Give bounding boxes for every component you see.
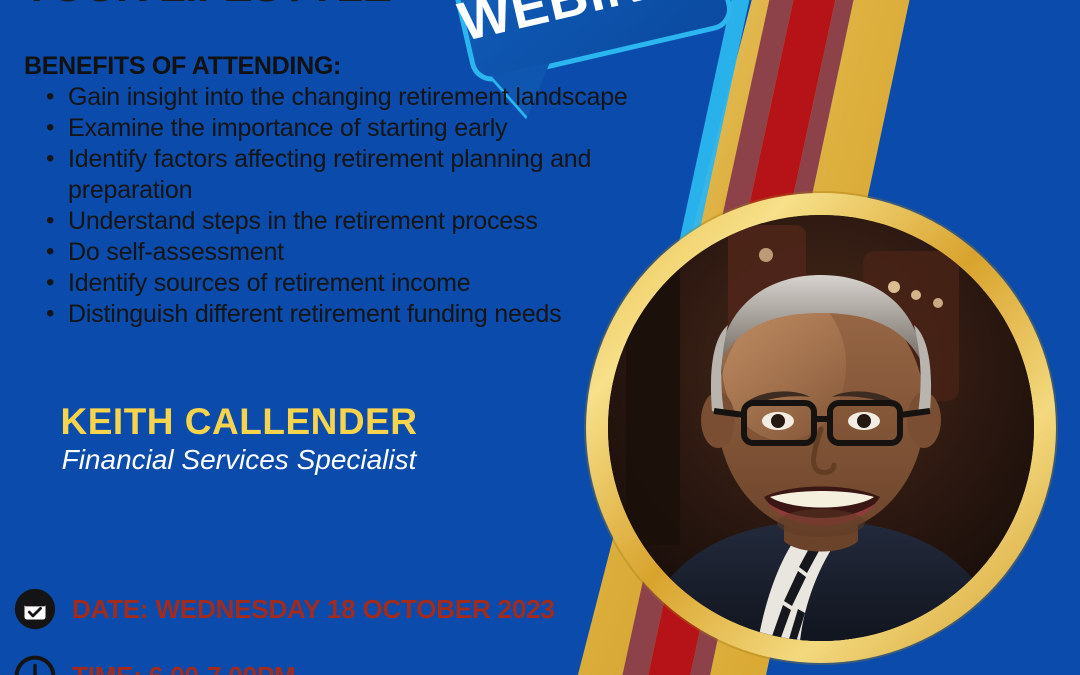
list-item: Gain insight into the changing retiremen… xyxy=(40,82,680,113)
list-item: Distinguish different retirement funding… xyxy=(40,299,680,330)
list-item: Understand steps in the retirement proce… xyxy=(40,206,680,237)
list-item: Identify sources of retirement income xyxy=(40,268,680,299)
date-row: DATE: WEDNESDAY 18 OCTOBER 2023 xyxy=(14,588,555,630)
time-row: TIME: 6.00-7.00PM xyxy=(14,655,295,675)
clock-icon xyxy=(14,655,56,675)
speaker-banner: KEITH CALLENDER Financial Services Speci… xyxy=(0,383,486,495)
benefits-heading: BENEFITS OF ATTENDING: xyxy=(24,52,341,81)
list-item: Identify factors affecting retirement pl… xyxy=(40,144,680,206)
webinar-flyer: FREE WEBINAR YOUR LIFESTYLE BENEFITS OF … xyxy=(0,0,1080,675)
date-text: DATE: WEDNESDAY 18 OCTOBER 2023 xyxy=(72,594,555,625)
list-item: Examine the importance of starting early xyxy=(40,113,680,144)
speaker-name: KEITH CALLENDER xyxy=(61,402,418,442)
calendar-check-icon xyxy=(14,588,56,630)
benefits-list: Gain insight into the changing retiremen… xyxy=(40,82,680,330)
time-text: TIME: 6.00-7.00PM xyxy=(72,661,295,675)
list-item: Do self-assessment xyxy=(40,237,680,268)
page-title: YOUR LIFESTYLE xyxy=(22,0,391,12)
speaker-role: Financial Services Specialist xyxy=(62,444,417,476)
